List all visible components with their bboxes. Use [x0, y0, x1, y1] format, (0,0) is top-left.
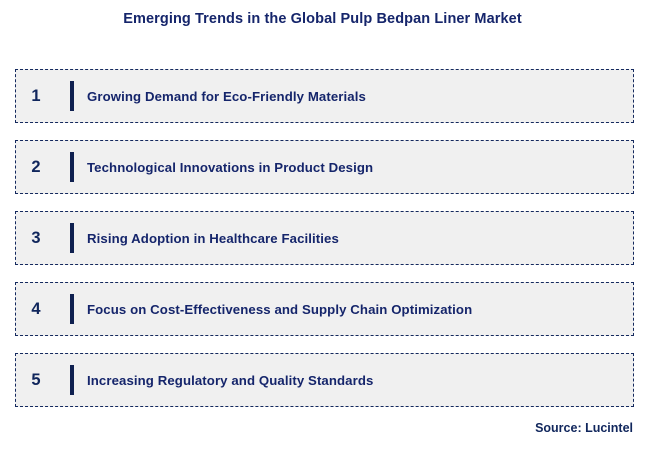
- list-item[interactable]: 3 Rising Adoption in Healthcare Faciliti…: [15, 211, 634, 265]
- list-item[interactable]: 2 Technological Innovations in Product D…: [15, 140, 634, 194]
- list-item[interactable]: 4 Focus on Cost-Effectiveness and Supply…: [15, 282, 634, 336]
- trend-label: Growing Demand for Eco-Friendly Material…: [74, 89, 633, 104]
- trend-number: 1: [16, 88, 56, 105]
- trend-number: 3: [16, 230, 56, 247]
- trend-label: Technological Innovations in Product Des…: [74, 160, 633, 175]
- list-item[interactable]: 1 Growing Demand for Eco-Friendly Materi…: [15, 69, 634, 123]
- trend-number: 4: [16, 301, 56, 318]
- page-title: Emerging Trends in the Global Pulp Bedpa…: [0, 11, 645, 27]
- trend-list: 1 Growing Demand for Eco-Friendly Materi…: [15, 69, 634, 407]
- trend-number: 5: [16, 372, 56, 389]
- trend-label: Focus on Cost-Effectiveness and Supply C…: [74, 302, 633, 317]
- trends-infographic: Emerging Trends in the Global Pulp Bedpa…: [0, 0, 645, 451]
- trend-label: Rising Adoption in Healthcare Facilities: [74, 231, 633, 246]
- trend-label: Increasing Regulatory and Quality Standa…: [74, 373, 633, 388]
- trend-number: 2: [16, 159, 56, 176]
- list-item[interactable]: 5 Increasing Regulatory and Quality Stan…: [15, 353, 634, 407]
- source-attribution: Source: Lucintel: [535, 421, 633, 435]
